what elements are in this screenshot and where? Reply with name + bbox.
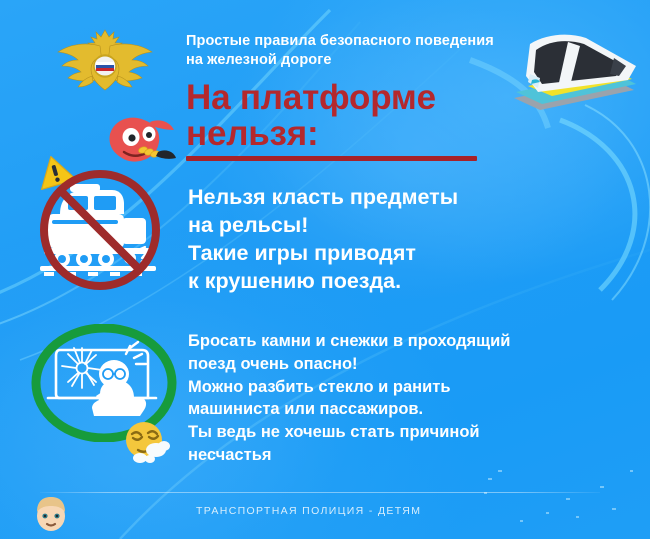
block1-line-3: Такие игры приводят [188,239,608,267]
title-line-1: На платформе [186,80,516,116]
block1-line-4: к крушению поезда. [188,267,608,295]
block2-line-6: несчастья [188,444,618,467]
poster-subtitle: Простые правила безопасного поведения на… [186,32,556,70]
russian-mvd-eagle-emblem-icon [52,26,158,92]
block1-line-2: на рельсы! [188,211,608,239]
boy-face-emoji-icon [30,494,72,534]
block2-line-2: поезд очень опасно! [188,353,618,376]
warning-text-block-one: Нельзя класть предметы на рельсы! Такие … [188,183,608,296]
title-underline-rule [186,156,477,161]
footer-separator [40,492,600,493]
sneezing-face-emoji-icon [120,418,172,464]
title-line-2: нельзя: [186,116,516,152]
block2-line-3: Можно разбить стекло и ранить [188,376,618,399]
poster-title: На платформе нельзя: [186,80,516,152]
subtitle-line-2: на железной дороге [186,51,556,70]
subtitle-line-1: Простые правила безопасного поведения [186,32,556,51]
block2-line-1: Бросать камни и снежки в проходящий [188,330,618,353]
poster-root: Простые правила безопасного поведения на… [0,0,650,539]
block2-line-5: Ты ведь не хочешь стать причиной [188,421,618,444]
no-train-prohibition-sign-icon [26,166,174,290]
block1-line-1: Нельзя класть предметы [188,183,608,211]
block2-line-4: машиниста или пассажиров. [188,398,618,421]
warning-text-block-two: Бросать камни и снежки в проходящий поез… [188,330,618,467]
footer-caption: ТРАНСПОРТНАЯ ПОЛИЦИЯ - ДЕТЯМ [196,505,421,517]
red-bird-character-icon [104,112,178,174]
